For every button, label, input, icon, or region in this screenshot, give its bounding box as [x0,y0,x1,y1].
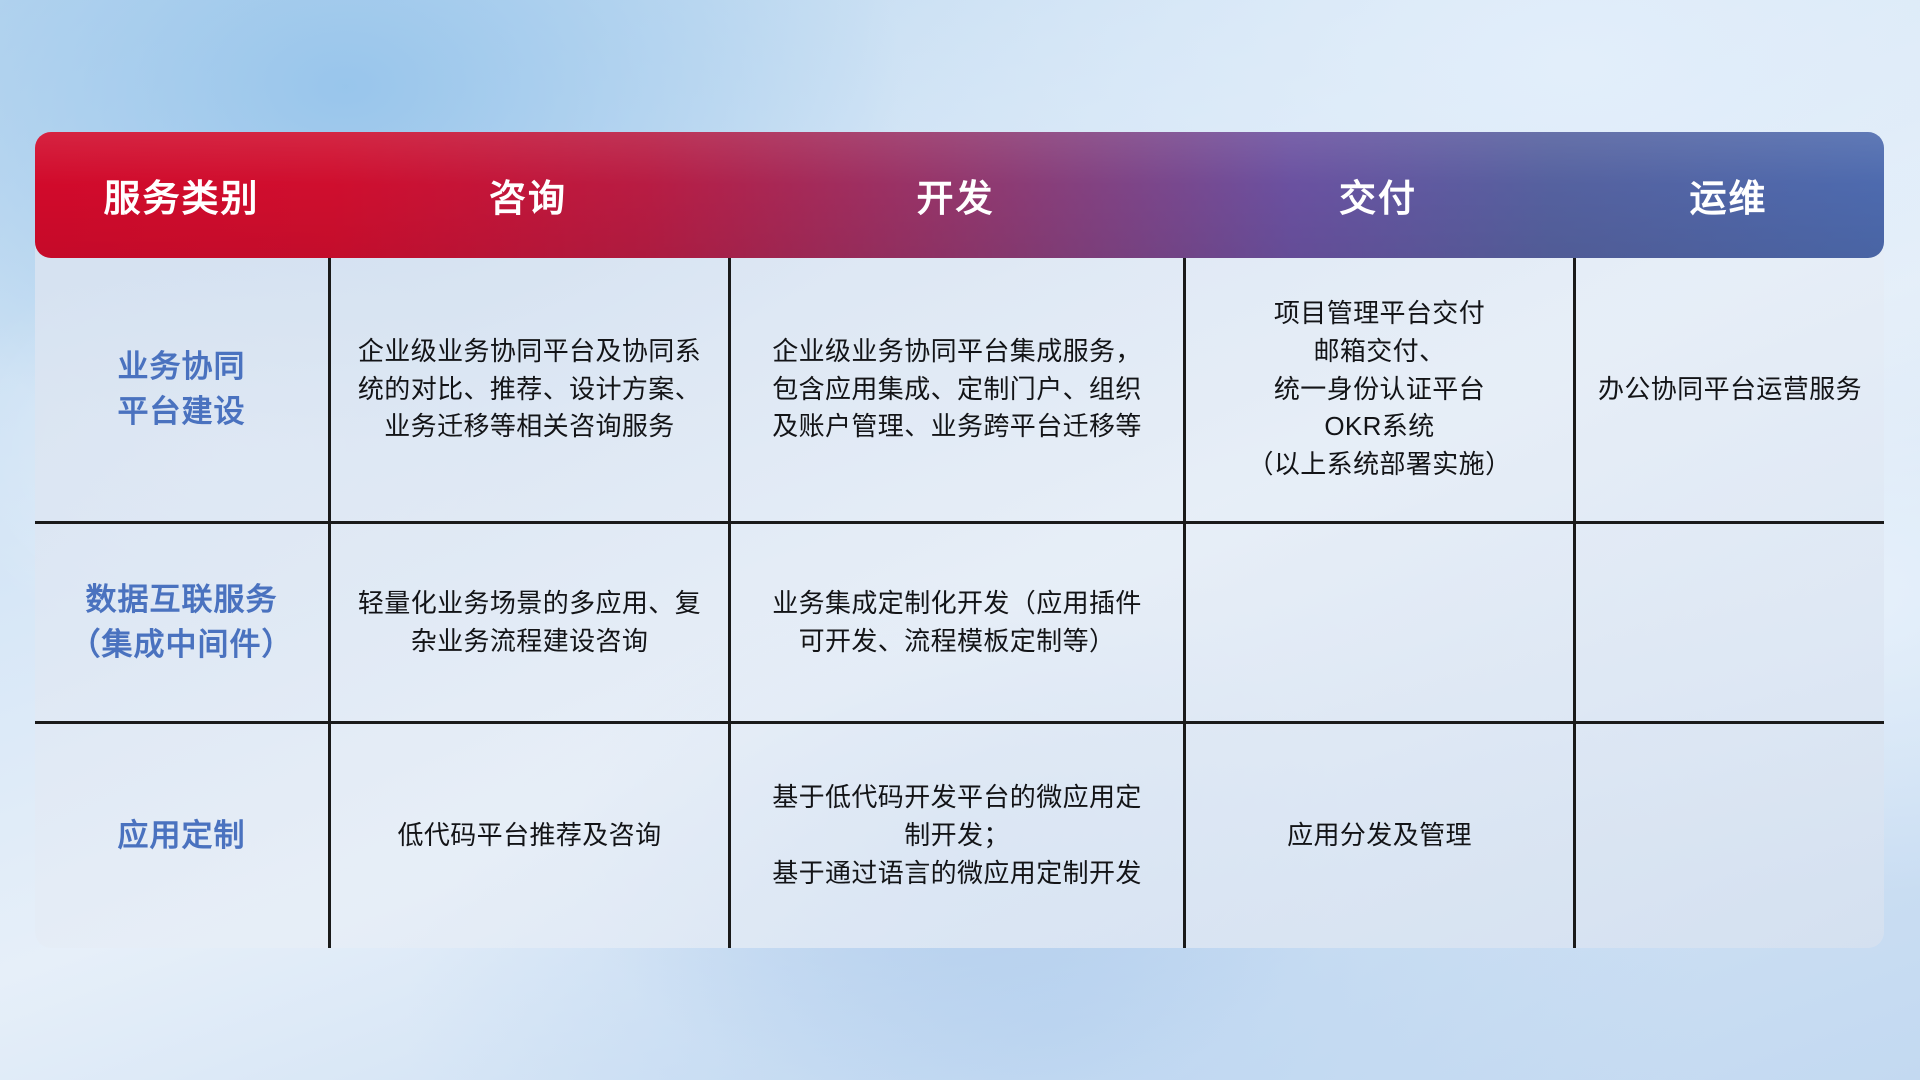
cell-delivery: 项目管理平台交付 邮箱交付、 统一身份认证平台 OKR系统 （以上系统部署实施） [1183,258,1573,521]
column-header-delivery: 交付 [1183,168,1573,222]
cell-consulting: 轻量化业务场景的多应用、复 杂业务流程建设咨询 [328,524,728,721]
cell-category: 应用定制 [35,724,328,948]
cell-category: 数据互联服务 （集成中间件） [35,524,328,721]
cell-text: 办公协同平台运营服务 [1598,371,1862,409]
cell-development: 业务集成定制化开发（应用插件 可开发、流程模板定制等） [728,524,1183,721]
column-header-development: 开发 [728,168,1183,222]
cell-category: 业务协同 平台建设 [35,258,328,521]
cell-operations [1573,724,1884,948]
cell-text: 业务集成定制化开发（应用插件 可开发、流程模板定制等） [772,585,1142,661]
cell-delivery [1183,524,1573,721]
column-header-category: 服务类别 [35,168,328,222]
category-label: 数据互联服务 （集成中间件） [70,578,294,666]
cell-operations [1573,524,1884,721]
cell-consulting: 低代码平台推荐及咨询 [328,724,728,948]
service-category-table: 服务类别 咨询 开发 交付 运维 业务协同 平台建设 企业级业务协同平台及协同系… [35,132,1919,952]
cell-text: 项目管理平台交付 邮箱交付、 统一身份认证平台 OKR系统 （以上系统部署实施） [1247,295,1511,485]
cell-development: 基于低代码开发平台的微应用定 制开发； 基于通过语言的微应用定制开发 [728,724,1183,948]
column-header-operations: 运维 [1573,168,1884,222]
table-body: 业务协同 平台建设 企业级业务协同平台及协同系 统的对比、推荐、设计方案、 业务… [35,258,1884,948]
column-header-consulting: 咨询 [328,168,728,222]
cell-delivery: 应用分发及管理 [1183,724,1573,948]
table-row: 数据互联服务 （集成中间件） 轻量化业务场景的多应用、复 杂业务流程建设咨询 业… [35,521,1884,721]
category-label: 应用定制 [118,814,246,858]
cell-text: 企业级业务协同平台集成服务， 包含应用集成、定制门户、组织 及账户管理、业务跨平… [772,333,1142,447]
cell-development: 企业级业务协同平台集成服务， 包含应用集成、定制门户、组织 及账户管理、业务跨平… [728,258,1183,521]
category-label: 业务协同 平台建设 [118,345,246,433]
cell-consulting: 企业级业务协同平台及协同系 统的对比、推荐、设计方案、 业务迁移等相关咨询服务 [328,258,728,521]
cell-text: 低代码平台推荐及咨询 [397,817,661,855]
cell-text: 应用分发及管理 [1287,817,1472,855]
table-row: 应用定制 低代码平台推荐及咨询 基于低代码开发平台的微应用定 制开发； 基于通过… [35,721,1884,948]
cell-text: 企业级业务协同平台及协同系 统的对比、推荐、设计方案、 业务迁移等相关咨询服务 [358,333,701,447]
table-row: 业务协同 平台建设 企业级业务协同平台及协同系 统的对比、推荐、设计方案、 业务… [35,258,1884,521]
cell-operations: 办公协同平台运营服务 [1573,258,1884,521]
table-header-row: 服务类别 咨询 开发 交付 运维 [35,132,1884,258]
cell-text: 轻量化业务场景的多应用、复 杂业务流程建设咨询 [358,585,701,661]
cell-text: 基于低代码开发平台的微应用定 制开发； 基于通过语言的微应用定制开发 [772,779,1142,893]
